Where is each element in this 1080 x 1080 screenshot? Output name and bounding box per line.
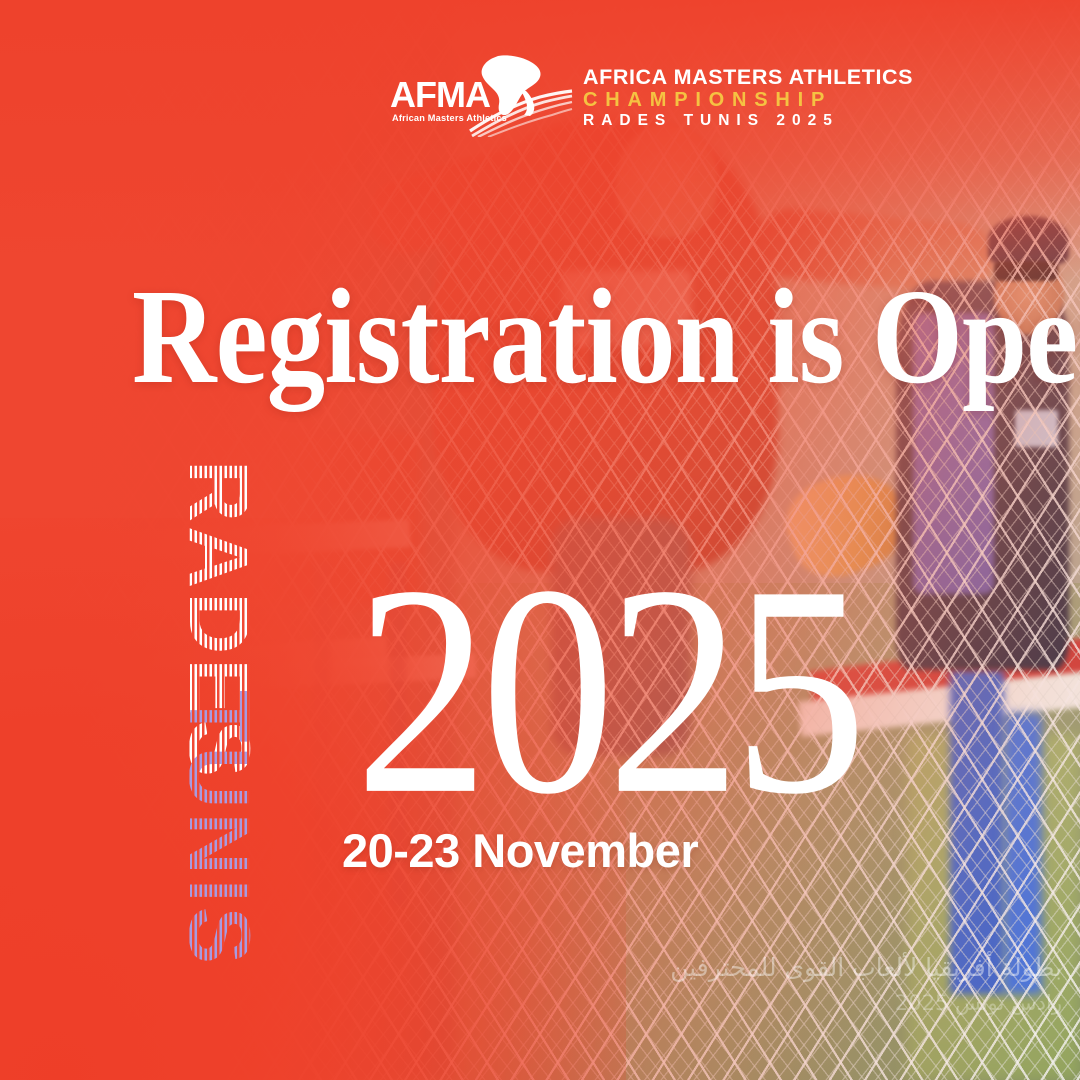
- championship-logo-lockup: AFMA African Masters Athletics AFRICA MA…: [390, 55, 913, 135]
- year-display: 2025: [355, 540, 859, 840]
- photo-official-badge: [1015, 410, 1058, 447]
- arabic-caption-line1: بطولة أفريقيا لألعاب القوى للمحترفين: [670, 949, 1062, 988]
- photo-official-cap: [988, 216, 1069, 265]
- photo-athlete-head: [616, 124, 719, 237]
- poster-canvas: بطولة أفريقيا لألعاب القوى للمحترفين راد…: [0, 0, 1080, 1080]
- afma-logo: AFMA African Masters Athletics: [390, 55, 575, 135]
- photo-banner-blue: [950, 670, 1004, 994]
- arabic-caption: بطولة أفريقيا لألعاب القوى للمحترفين راد…: [670, 949, 1062, 1020]
- vertical-location-block: RADES TUNIS: [150, 360, 330, 920]
- afma-wordmark: AFMA: [390, 77, 490, 113]
- headline-registration-open: Registration is Open!: [132, 272, 1080, 403]
- photo-hurdle-leg: [86, 680, 101, 939]
- championship-title-line3: RADES TUNIS 2025: [583, 112, 913, 129]
- championship-title-line2: CHAMPIONSHIP: [583, 90, 913, 111]
- vertical-country-label: TUNIS: [176, 690, 262, 968]
- arabic-caption-line2: رادس تونس 2025: [670, 987, 1062, 1020]
- event-date: 20-23 November: [342, 823, 698, 878]
- afma-subtitle: African Masters Athletics: [392, 113, 507, 123]
- championship-title-line1: AFRICA MASTERS ATHLETICS: [583, 66, 913, 89]
- championship-title-block: AFRICA MASTERS ATHLETICS CHAMPIONSHIP RA…: [583, 60, 913, 129]
